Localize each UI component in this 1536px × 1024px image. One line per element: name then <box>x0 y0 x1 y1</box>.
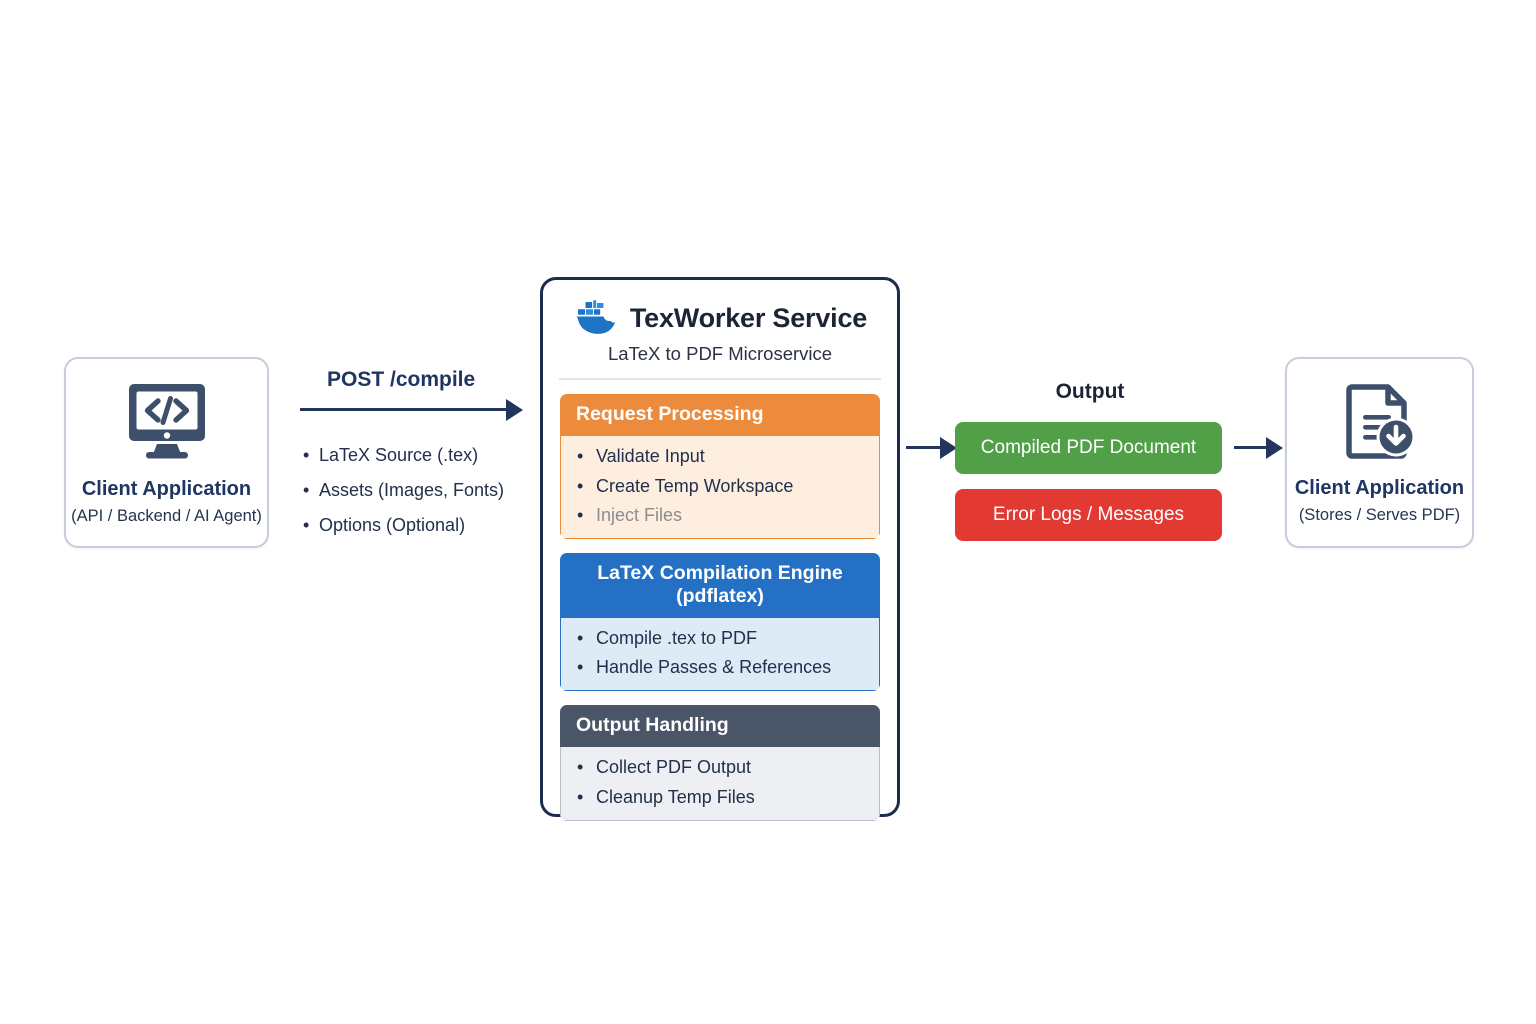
bullet-icon: • <box>303 516 319 534</box>
list-item: • Create Temp Workspace <box>577 477 863 496</box>
engine-step-label: Compile .tex to PDF <box>596 629 757 648</box>
client-application-output-card[interactable]: Client Application (Stores / Serves PDF) <box>1285 357 1474 548</box>
bullet-icon: • <box>577 447 596 465</box>
request-item-label: Assets (Images, Fonts) <box>319 481 504 499</box>
output-step-label: Collect PDF Output <box>596 758 751 777</box>
list-item: • Validate Input <box>577 447 863 466</box>
request-arrow-line <box>300 408 508 411</box>
header-divider <box>559 378 881 380</box>
request-item-label: LaTeX Source (.tex) <box>319 446 478 464</box>
client-output-title: Client Application <box>1295 477 1464 499</box>
bullet-icon: • <box>577 658 596 676</box>
service-name: TexWorker Service <box>630 303 867 334</box>
section-compilation-engine[interactable]: LaTeX Compilation Engine (pdflatex) • Co… <box>560 553 880 691</box>
output-title: Output <box>955 380 1225 404</box>
compiled-pdf-badge[interactable]: Compiled PDF Document <box>955 422 1222 474</box>
bullet-icon: • <box>577 506 596 524</box>
section-header-output-handling: Output Handling <box>560 705 880 747</box>
request-step-label: Create Temp Workspace <box>596 477 793 496</box>
section-body-output-handling: • Collect PDF Output • Cleanup Temp File… <box>560 747 880 821</box>
section-output-handling[interactable]: Output Handling • Collect PDF Output • C… <box>560 705 880 820</box>
request-item-label: Options (Optional) <box>319 516 465 534</box>
output-step-label: Cleanup Temp Files <box>596 788 755 807</box>
arrow-right-icon <box>506 399 523 421</box>
list-item: • Options (Optional) <box>303 516 504 534</box>
engine-header-line1: LaTeX Compilation Engine <box>576 562 864 585</box>
error-logs-badge[interactable]: Error Logs / Messages <box>955 489 1222 541</box>
bullet-icon: • <box>577 758 596 776</box>
code-monitor-icon <box>124 380 210 464</box>
bullet-icon: • <box>577 629 596 647</box>
texworker-service-container: TexWorker Service LaTeX to PDF Microserv… <box>540 277 900 817</box>
bullet-icon: • <box>303 446 319 464</box>
list-item: • Handle Passes & References <box>577 658 863 677</box>
client-input-subtitle: (API / Backend / AI Agent) <box>71 507 262 525</box>
bullet-icon: • <box>577 788 596 806</box>
engine-step-label: Handle Passes & References <box>596 658 831 677</box>
list-item: • Collect PDF Output <box>577 758 863 777</box>
error-logs-label: Error Logs / Messages <box>993 504 1184 526</box>
section-header-compilation-engine: LaTeX Compilation Engine (pdflatex) <box>560 553 880 617</box>
section-body-request-processing: • Validate Input • Create Temp Workspace… <box>560 436 880 540</box>
request-payload-list: • LaTeX Source (.tex) • Assets (Images, … <box>303 446 504 551</box>
request-step-label: Inject Files <box>596 506 682 525</box>
list-item: • Cleanup Temp Files <box>577 788 863 807</box>
service-header: TexWorker Service LaTeX to PDF Microserv… <box>543 280 897 365</box>
pdf-download-icon <box>1339 381 1421 463</box>
client-output-subtitle: (Stores / Serves PDF) <box>1299 506 1460 524</box>
request-step-label: Validate Input <box>596 447 705 466</box>
list-item: • LaTeX Source (.tex) <box>303 446 504 464</box>
post-compile-label: POST /compile <box>327 368 475 392</box>
engine-header-line2: (pdflatex) <box>576 585 864 608</box>
diagram-canvas: Client Application (API / Backend / AI A… <box>0 0 1536 1024</box>
output-to-client-arrow-line <box>1234 446 1268 449</box>
list-item: • Compile .tex to PDF <box>577 629 863 648</box>
arrow-right-icon <box>1266 437 1283 459</box>
section-body-compilation-engine: • Compile .tex to PDF • Handle Passes & … <box>560 618 880 692</box>
service-to-output-arrow-line <box>906 446 942 449</box>
list-item: • Assets (Images, Fonts) <box>303 481 504 499</box>
section-header-request-processing: Request Processing <box>560 394 880 436</box>
service-tagline: LaTeX to PDF Microservice <box>608 343 832 365</box>
list-item: • Inject Files <box>577 506 863 525</box>
bullet-icon: • <box>303 481 319 499</box>
compiled-pdf-label: Compiled PDF Document <box>981 437 1196 459</box>
client-input-title: Client Application <box>82 478 251 500</box>
bullet-icon: • <box>577 477 596 495</box>
client-application-input-card[interactable]: Client Application (API / Backend / AI A… <box>64 357 269 548</box>
docker-whale-icon <box>573 300 617 337</box>
section-request-processing[interactable]: Request Processing • Validate Input • Cr… <box>560 394 880 539</box>
